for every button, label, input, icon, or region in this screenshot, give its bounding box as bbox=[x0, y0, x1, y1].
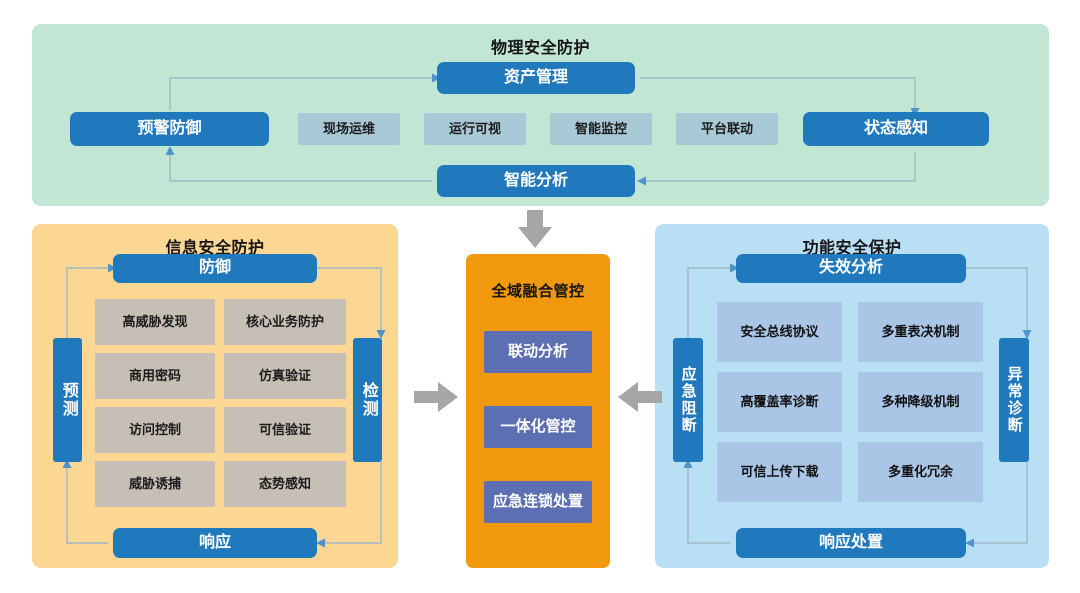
box-access-control[interactable]: 访问控制 bbox=[95, 407, 215, 453]
box-emergency-blocking[interactable]: 应急阻断 bbox=[673, 338, 703, 462]
box-high-coverage-diagnosis[interactable]: 高覆盖率诊断 bbox=[717, 372, 842, 432]
box-multiple-degradation-mechanism[interactable]: 多种降级机制 bbox=[858, 372, 983, 432]
box-emergency-chain-disposal[interactable]: 应急连锁处置 bbox=[484, 481, 592, 523]
box-platform-linkage[interactable]: 平台联动 bbox=[676, 113, 778, 145]
box-linkage-analysis[interactable]: 联动分析 bbox=[484, 331, 592, 373]
box-threat-luring[interactable]: 威胁诱捕 bbox=[95, 461, 215, 507]
box-asset-management[interactable]: 资产管理 bbox=[437, 62, 635, 94]
box-info-response[interactable]: 响应 bbox=[113, 528, 317, 558]
box-core-business-protection[interactable]: 核心业务防护 bbox=[224, 299, 346, 345]
box-integrated-control[interactable]: 一体化管控 bbox=[484, 406, 592, 448]
box-failure-analysis[interactable]: 失效分析 bbox=[736, 254, 966, 283]
panel-center-title: 全域融合管控 bbox=[466, 280, 610, 301]
panel-physical-title: 物理安全防护 bbox=[32, 34, 1049, 58]
box-response-disposal[interactable]: 响应处置 bbox=[736, 528, 966, 558]
box-early-warning-defense[interactable]: 预警防御 bbox=[70, 112, 269, 146]
box-status-awareness[interactable]: 状态感知 bbox=[803, 112, 989, 146]
box-intelligent-analysis[interactable]: 智能分析 bbox=[437, 165, 635, 197]
box-intelligent-monitoring[interactable]: 智能监控 bbox=[550, 113, 652, 145]
box-onsite-ops[interactable]: 现场运维 bbox=[298, 113, 400, 145]
right-arrow-info-to-center bbox=[412, 380, 460, 414]
box-info-detection[interactable]: 检测 bbox=[353, 338, 382, 462]
box-trusted-verification[interactable]: 可信验证 bbox=[224, 407, 346, 453]
box-situation-awareness[interactable]: 态势感知 bbox=[224, 461, 346, 507]
box-high-threat-discovery[interactable]: 高威胁发现 bbox=[95, 299, 215, 345]
diagram-canvas: 物理安全防护 资产管理 预警防御 现场运维 运行可视 智能监控 平台联动 状态感… bbox=[0, 0, 1080, 593]
box-multiplex-redundancy[interactable]: 多重化冗余 bbox=[858, 442, 983, 502]
box-info-prediction[interactable]: 预测 bbox=[53, 338, 82, 462]
box-trusted-upload-download[interactable]: 可信上传下载 bbox=[717, 442, 842, 502]
box-anomaly-diagnosis[interactable]: 异常诊断 bbox=[999, 338, 1029, 462]
box-multiple-voting-mechanism[interactable]: 多重表决机制 bbox=[858, 302, 983, 362]
box-info-defense[interactable]: 防御 bbox=[113, 254, 317, 283]
box-commercial-cryptography[interactable]: 商用密码 bbox=[95, 353, 215, 399]
box-simulation-verification[interactable]: 仿真验证 bbox=[224, 353, 346, 399]
left-arrow-func-to-center bbox=[616, 380, 664, 414]
box-safety-bus-protocol[interactable]: 安全总线协议 bbox=[717, 302, 842, 362]
down-arrow-physical-to-center bbox=[514, 208, 556, 250]
box-operation-visibility[interactable]: 运行可视 bbox=[424, 113, 526, 145]
